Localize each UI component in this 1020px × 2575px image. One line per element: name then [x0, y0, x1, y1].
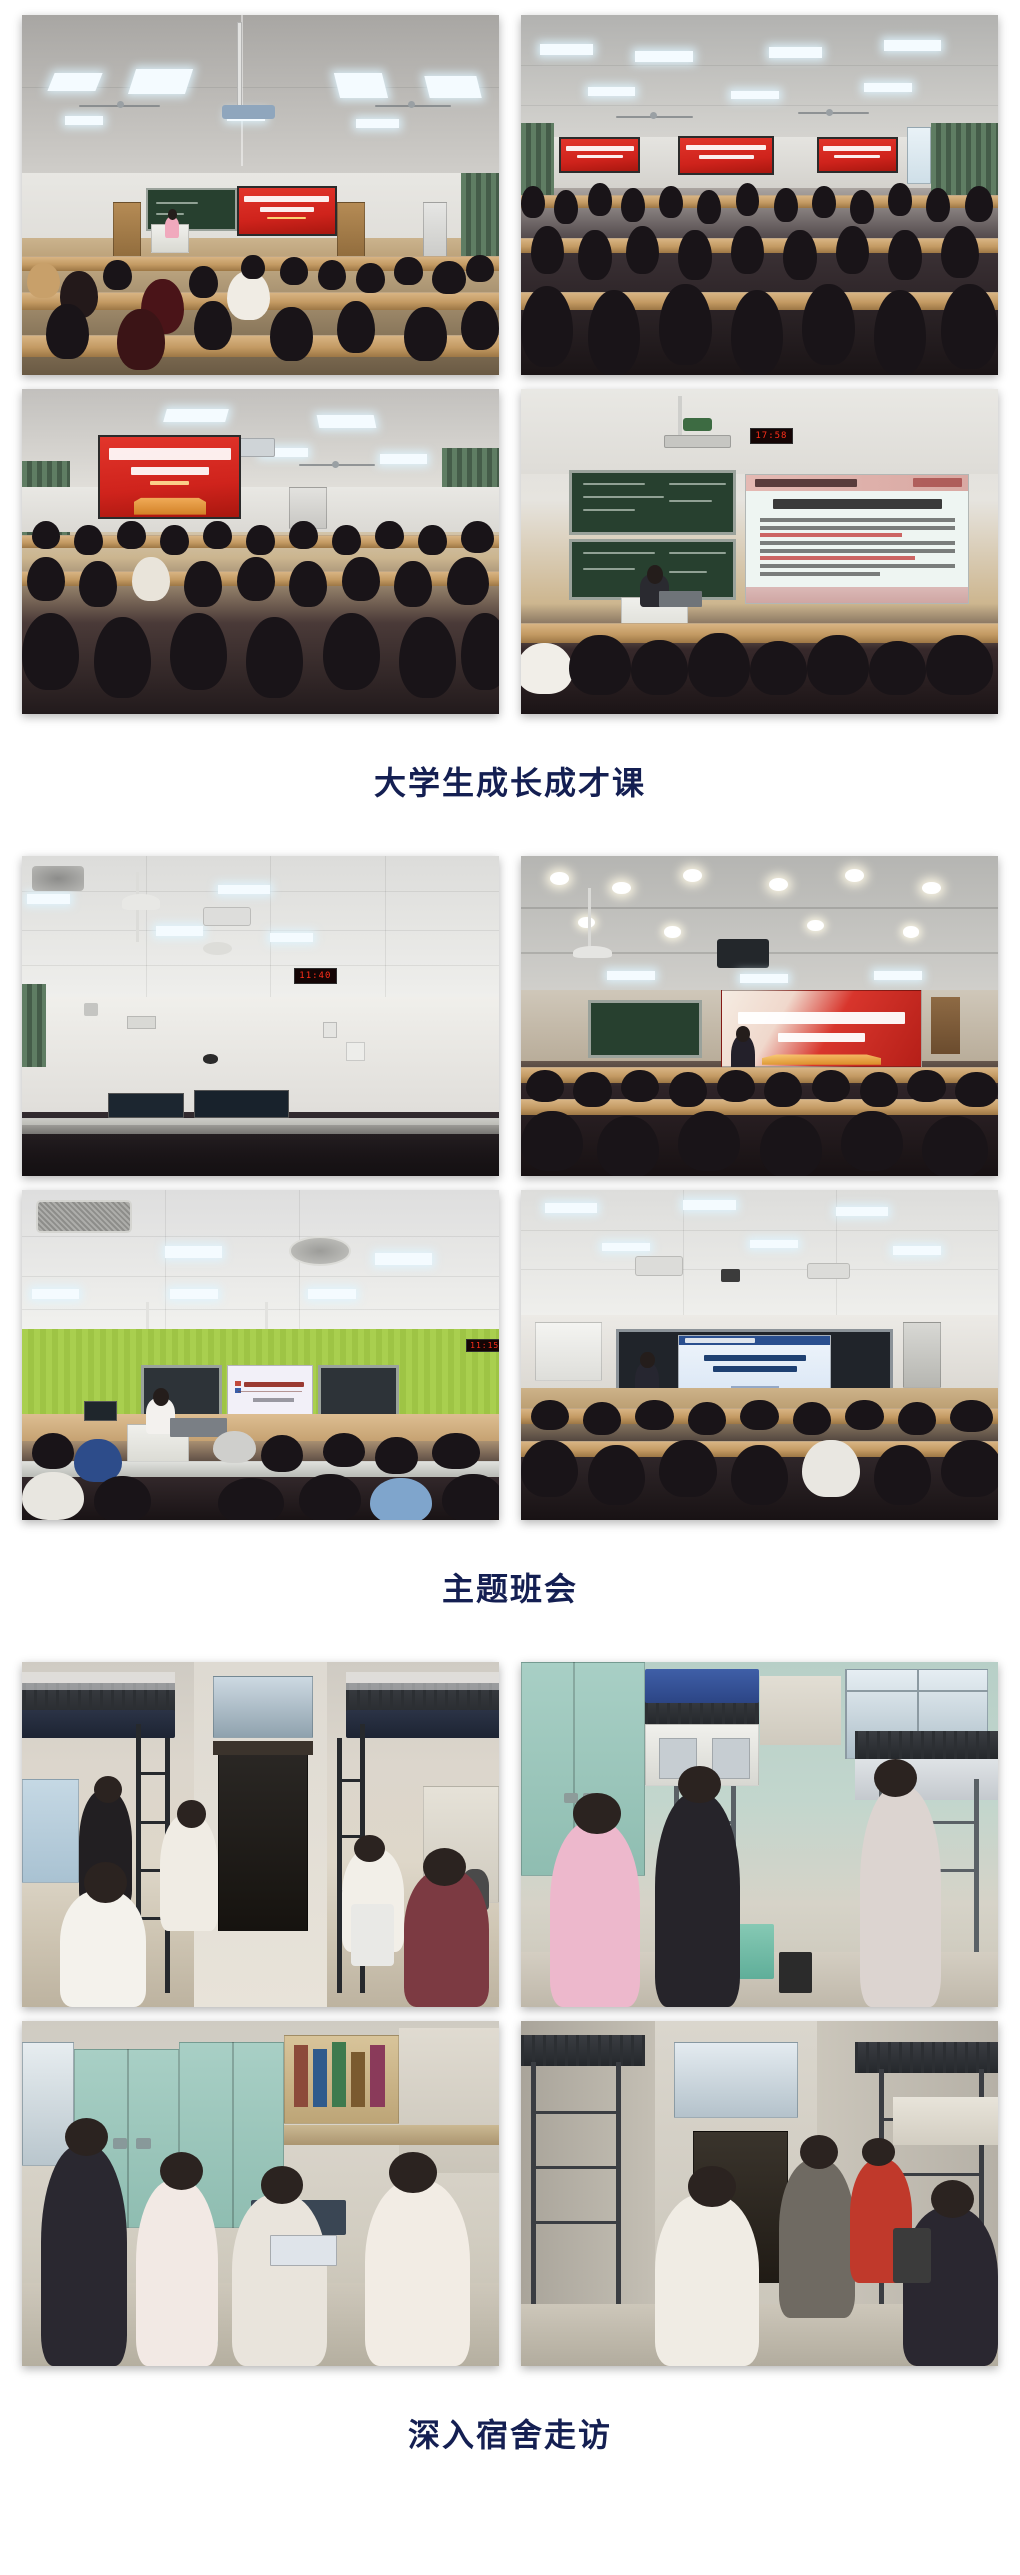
photo-lecture-hall-wide[interactable]: 阶梯教室学生听安全教育课 — [22, 15, 499, 375]
caption-growth-course: 大学生成长成才课 — [0, 758, 1020, 804]
photo-dorm-corner-chat[interactable]: 宿舍内学生与老师交流 — [521, 2021, 998, 2366]
photo-national-day-safety[interactable]: 12:05 — [521, 856, 998, 1176]
photo-male-dorm-visit[interactable]: 老师走访男生宿舍与学生交谈 — [22, 1662, 499, 2007]
led-clock: 17:58 — [750, 428, 793, 444]
photo-classroom-white-ceiling[interactable]: 11:40 明亮教室主题班会现场 — [22, 856, 499, 1176]
photo-grid-theme-class-meeting: 11:40 明亮教室主题班会现场 — [0, 856, 1020, 1520]
photo-green-wall-classroom[interactable]: 11:15 — [22, 1190, 499, 1520]
photo-lecture-hall-red-banner[interactable]: 红色横幅安全专题教育课现场 — [22, 389, 499, 714]
photo-dorm-laptop-talk[interactable]: 宿舍内师生围坐交流查看笔记本电脑 — [22, 2021, 499, 2366]
led-clock: 11:40 — [294, 968, 337, 984]
led-clock: 11:15 — [466, 1339, 499, 1352]
photo-collage-page: 阶梯教室学生听安全教育课 — [0, 0, 1020, 2456]
photo-lecture-hall-rear[interactable]: 教室后排学生面向红色主题屏幕 — [521, 15, 998, 375]
photo-traffic-safety-lecture[interactable]: 17:58 — [521, 389, 998, 714]
projection-screen — [745, 474, 969, 604]
section-theme-class-meeting: 11:40 明亮教室主题班会现场 — [0, 804, 1020, 1610]
caption-dorm-visits: 深入宿舍走访 — [0, 2410, 1020, 2456]
photo-grid-growth-course: 阶梯教室学生听安全教育课 — [0, 15, 1020, 714]
photo-grid-dorm-visits: 老师走访男生宿舍与学生交谈 — [0, 1662, 1020, 2366]
photo-female-dorm-visit[interactable]: 老师走访女生宿舍 — [521, 1662, 998, 2007]
caption-theme-class-meeting: 主题班会 — [0, 1564, 1020, 1610]
section-dorm-visits: 老师走访男生宿舍与学生交谈 — [0, 1610, 1020, 2456]
projection-screen — [227, 1365, 313, 1421]
section-growth-course: 阶梯教室学生听安全教育课 — [0, 0, 1020, 804]
projection-screen — [678, 1335, 831, 1394]
photo-electronics-class-meeting[interactable]: 电子商务2024级国庆假期安全教育班会 — [521, 1190, 998, 1520]
